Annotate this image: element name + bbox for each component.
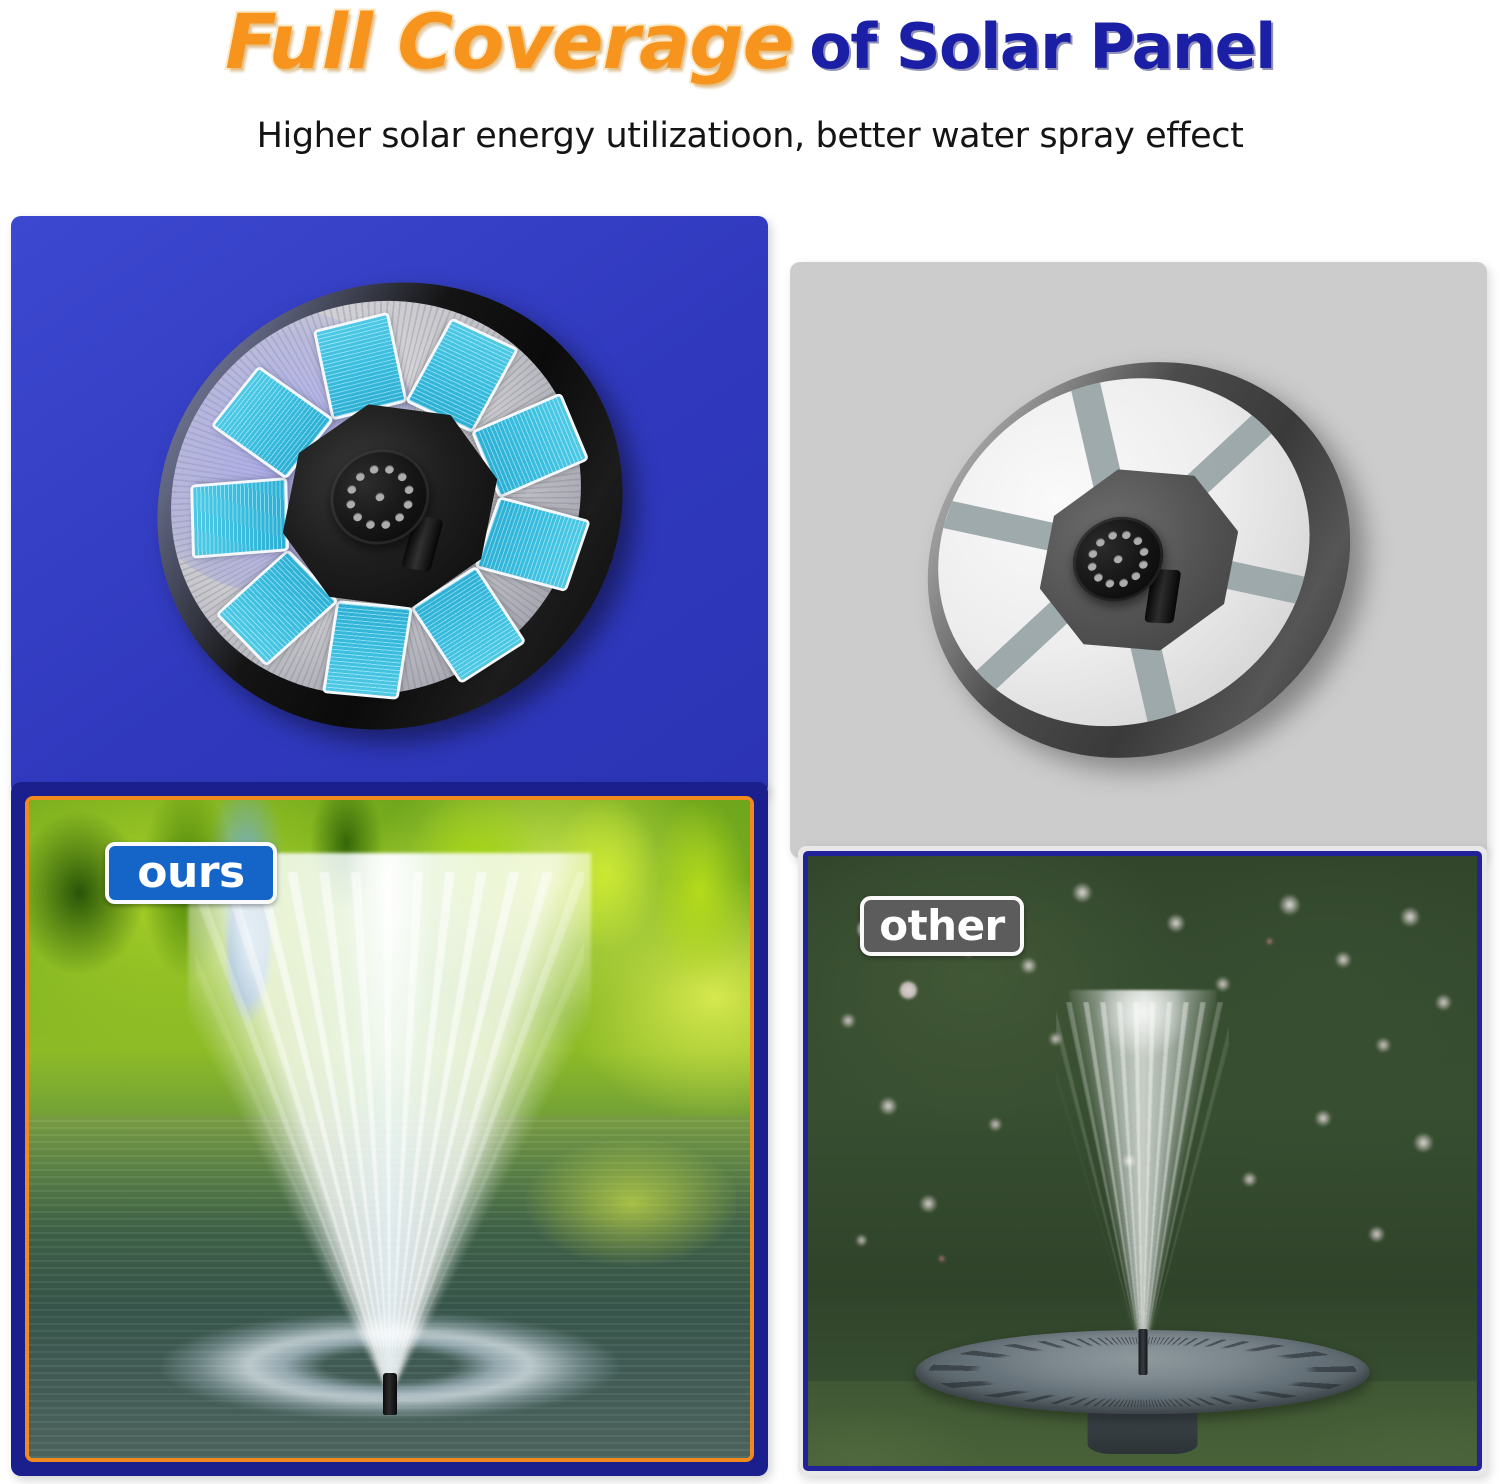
fountain-nozzle [383,1373,397,1415]
solar-cell [322,600,413,700]
badge-other: other [860,896,1024,956]
nozzle-hole [396,472,406,482]
nozzle-hole [1107,530,1117,540]
page-subtitle: Higher solar energy utilizatioon, better… [0,116,1500,156]
fountain-spray-droplets [1056,1002,1230,1368]
nozzle-hole [394,512,404,522]
nozzle-hole [1130,571,1140,581]
nozzle-hole [1118,578,1128,588]
ours-photo-frame: ours [25,796,754,1462]
nozzle-hole [355,471,365,481]
nozzle-hole [1138,546,1148,556]
nozzle-hole [368,464,378,474]
other-solar-fountain-disc [888,312,1389,808]
fountain-spray-rays [195,872,584,1398]
nozzle-hole [1121,530,1131,540]
panel-ours-product [11,216,768,796]
nozzle-hole [402,499,412,509]
page-title: Full Coverageof Solar Panel [0,4,1500,80]
headline-highlight: Full Coverage [225,0,793,86]
badge-ours-label: ours [137,851,244,895]
ours-solar-fountain-disc [116,233,664,779]
headline-rest: of Solar Panel [809,10,1275,83]
header: Full Coverageof Solar Panel Higher solar… [0,0,1500,180]
nozzle-hole [403,484,413,494]
nozzle-hole [1086,561,1096,571]
nozzle-hole [1138,559,1148,569]
fountain-nozzle [1138,1329,1147,1375]
nozzle-hole [1087,549,1097,559]
nozzle-hole [384,464,394,474]
other-photo-frame: other [803,851,1482,1471]
nozzle-hole [346,484,356,494]
nozzle-hole [1112,554,1122,564]
solar-cell [190,477,289,559]
panel-other-product [790,262,1487,858]
nozzle-hole [1095,537,1105,547]
nozzle-hole [1132,536,1142,546]
nozzle-hole [352,512,362,522]
panel-other-photo: other [798,846,1487,1476]
nozzle-hole [1104,578,1114,588]
panel-ours-photo: ours [11,782,768,1476]
nozzle-hole [345,499,355,509]
nozzle-hole [365,519,375,529]
nozzle-hole [380,519,390,529]
birdbath-pedestal [1088,1408,1197,1454]
badge-ours: ours [105,842,277,904]
nozzle-hole [374,492,384,502]
nozzle-hole [1093,572,1103,582]
badge-other-label: other [879,905,1005,947]
